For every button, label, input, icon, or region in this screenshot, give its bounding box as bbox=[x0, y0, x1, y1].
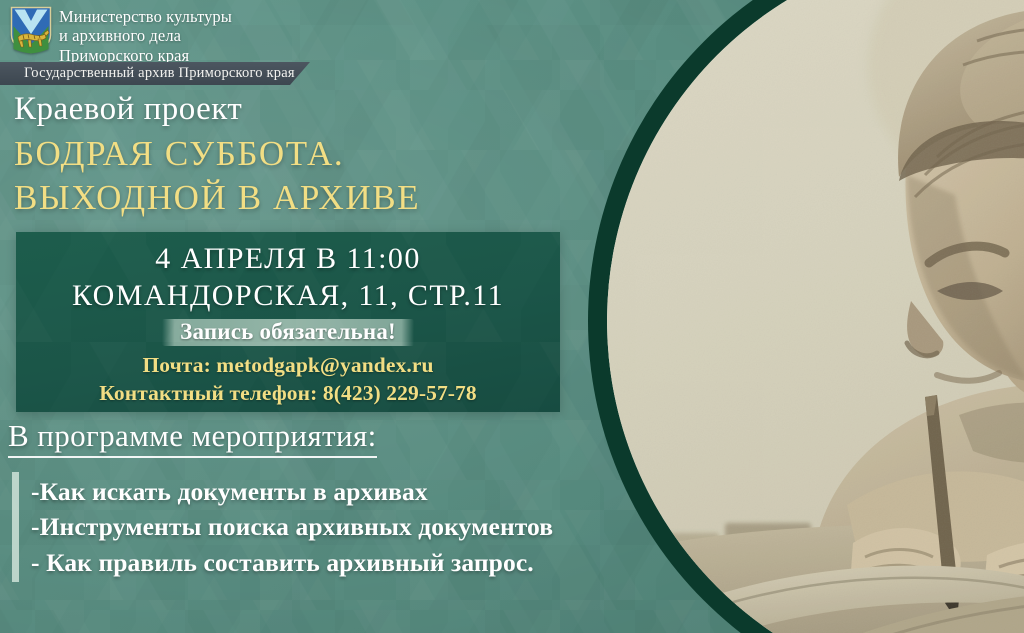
photo-circle-frame bbox=[588, 0, 1024, 633]
event-details-content: 4 АПРЕЛЯ В 11:00 КОМАНДОРСКАЯ, 11, СТР.1… bbox=[16, 232, 560, 407]
primorsky-krai-coat-of-arms-icon bbox=[10, 6, 52, 54]
registration-note-wrap: Запись обязательна! bbox=[16, 317, 560, 348]
contact-phone[interactable]: Контактный телефон: 8(423) 229-57-78 bbox=[16, 380, 560, 408]
program-item: -Инструменты поиска архивных документов bbox=[31, 509, 553, 544]
ministry-line-1: Министерство культуры bbox=[59, 7, 232, 26]
program-item: -Как искать документы в архивах bbox=[31, 474, 553, 509]
ribbon-label: Государственный архив Приморского края bbox=[0, 65, 295, 82]
poster-canvas: Министерство культуры и архивного дела П… bbox=[0, 0, 1024, 633]
registration-note: Запись обязательна! bbox=[166, 317, 410, 348]
contact-email[interactable]: Почта: metodgapk@yandex.ru bbox=[16, 352, 560, 380]
ministry-name: Министерство культуры и архивного дела П… bbox=[59, 6, 232, 65]
event-address: КОМАНДОРСКАЯ, 11, СТР.11 bbox=[16, 278, 560, 315]
project-kicker: Краевой проект bbox=[14, 92, 420, 128]
program-item: - Как правиль составить архивный запрос. bbox=[31, 545, 553, 580]
project-title-line-2: ВЫХОДНОЙ В АРХИВЕ bbox=[14, 176, 420, 220]
event-datetime: 4 АПРЕЛЯ В 11:00 bbox=[16, 241, 560, 278]
project-title-line-1: БОДРАЯ СУББОТА. bbox=[14, 132, 420, 176]
program-heading: В программе мероприятия: bbox=[8, 418, 377, 458]
archive-ribbon: Государственный архив Приморского края bbox=[0, 62, 295, 85]
organization-header: Министерство культуры и архивного дела П… bbox=[10, 6, 232, 65]
ministry-line-2: и архивного дела bbox=[59, 26, 232, 45]
event-details-panel: 4 АПРЕЛЯ В 11:00 КОМАНДОРСКАЯ, 11, СТР.1… bbox=[16, 232, 560, 412]
archive-woman-writing-photo bbox=[607, 0, 1024, 633]
photo-circle-clip bbox=[607, 0, 1024, 633]
title-block: Краевой проект БОДРАЯ СУББОТА. ВЫХОДНОЙ … bbox=[14, 92, 420, 221]
program-list: -Как искать документы в архивах -Инструм… bbox=[12, 472, 553, 582]
